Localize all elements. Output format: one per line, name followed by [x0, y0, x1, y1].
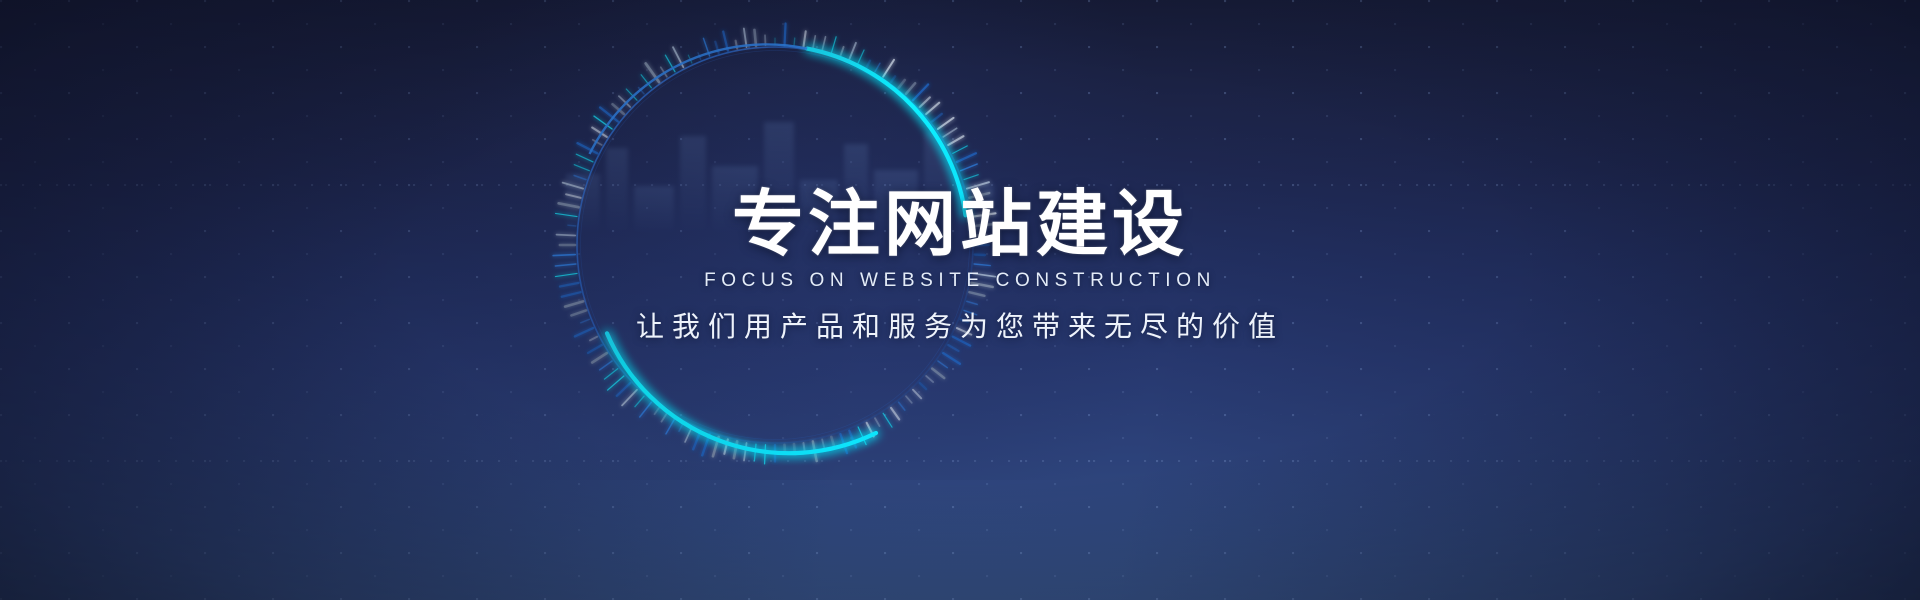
hud-circle-ring [545, 15, 1005, 475]
dotted-grid-pattern-fine [0, 0, 1920, 600]
cyan-progress-arc-top [807, 49, 965, 216]
banner-title: 专注网站建设 [0, 188, 1920, 260]
ring-outline [577, 47, 973, 443]
hero-banner: 专注网站建设 FOCUS ON WEBSITE CONSTRUCTION 让我们… [0, 0, 1920, 600]
banner-subtitle: FOCUS ON WEBSITE CONSTRUCTION [0, 270, 1920, 292]
blurred-city-skyline [560, 112, 1000, 232]
cyan-progress-arc-bottom [607, 333, 876, 453]
ring-arc-dim [590, 44, 808, 154]
edge-shadow-overlay [0, 0, 1920, 600]
banner-tagline: 让我们用产品和服务为您带来无尽的价值 [0, 305, 1920, 345]
center-glow-overlay [420, 0, 1180, 480]
dotted-grid-pattern [0, 0, 1920, 600]
radial-tick-marks [553, 24, 995, 464]
vignette-overlay [0, 0, 1920, 600]
ring-outline-inner [581, 51, 970, 440]
